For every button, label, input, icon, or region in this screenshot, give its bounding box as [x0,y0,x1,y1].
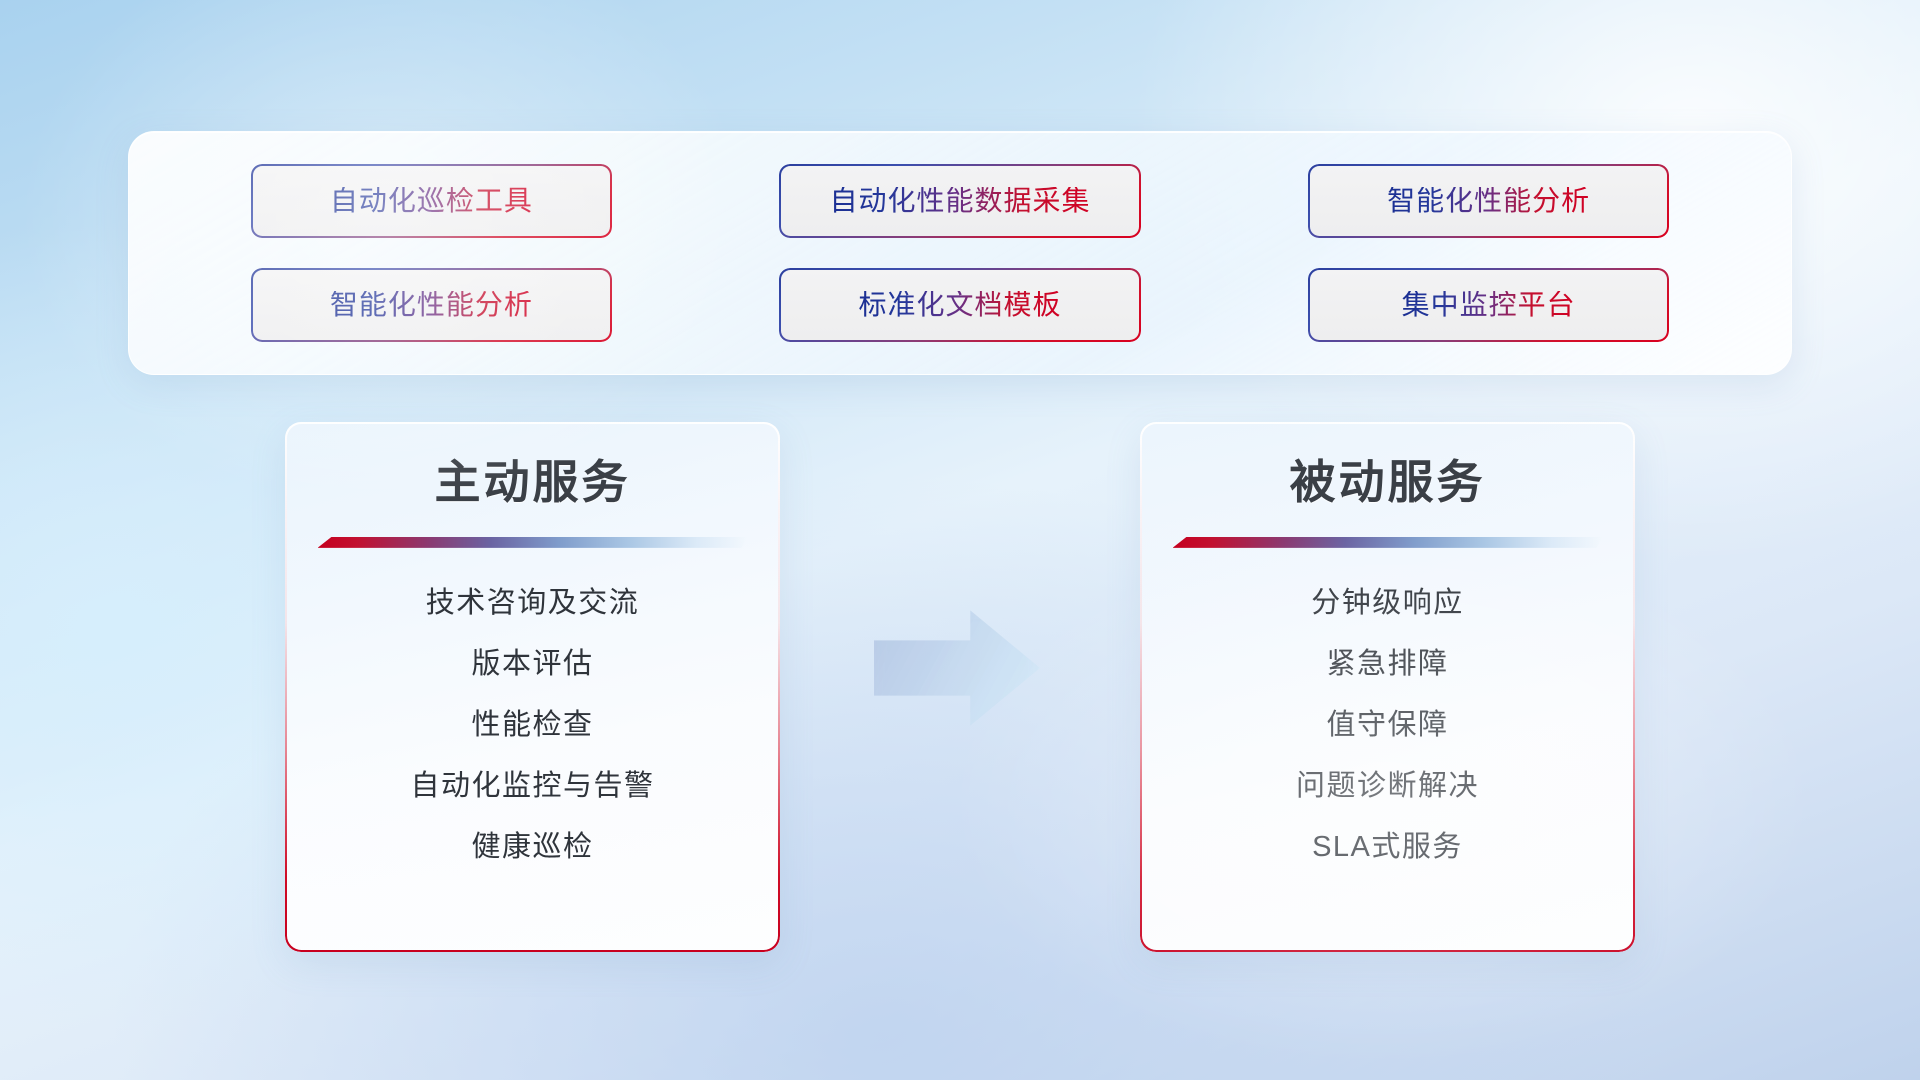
list-item: 值守保障 [1170,704,1605,746]
list-item: 健康巡检 [315,826,750,868]
capability-chip-intelligent-performance-analysis-1[interactable]: 智能化性能分析 [1310,166,1668,236]
capability-chip-intelligent-performance-analysis-2[interactable]: 智能化性能分析 [252,270,610,340]
service-card-proactive[interactable]: 主动服务 技术咨询及交流 版本评估 性能检查 自动化监控与告警 健康巡检 [285,422,780,952]
capability-chip-standardized-document-template[interactable]: 标准化文档模板 [781,270,1139,340]
capability-chip-label: 标准化文档模板 [858,291,1061,319]
capability-chip-label: 自动化性能数据采集 [829,187,1090,215]
list-item: 分钟级响应 [1170,582,1605,624]
list-item: 版本评估 [315,643,750,685]
title-divider-bar [1173,537,1603,548]
service-card-reactive[interactable]: 被动服务 分钟级响应 紧急排障 值守保障 问题诊断解决 SLA式服务 [1140,422,1635,952]
service-card-title: 被动服务 [1170,456,1605,509]
service-item-list: 技术咨询及交流 版本评估 性能检查 自动化监控与告警 健康巡检 [315,582,750,868]
capability-panel: 自动化巡检工具 自动化性能数据采集 智能化性能分析 智能化性能分析 标准化文档模… [128,131,1792,375]
title-divider-bar [318,537,748,548]
capability-chip-centralized-monitoring-platform[interactable]: 集中监控平台 [1310,270,1668,340]
capability-chip-label: 集中监控平台 [1402,291,1576,319]
list-item: 性能检查 [315,704,750,746]
slide-canvas: 自动化巡检工具 自动化性能数据采集 智能化性能分析 智能化性能分析 标准化文档模… [0,0,1920,1080]
service-card-title: 主动服务 [315,456,750,509]
list-item: 问题诊断解决 [1170,765,1605,807]
list-item: 自动化监控与告警 [315,765,750,807]
capability-chip-label: 自动化巡检工具 [330,187,533,215]
list-item: 技术咨询及交流 [315,582,750,624]
service-item-list: 分钟级响应 紧急排障 值守保障 问题诊断解决 SLA式服务 [1170,582,1605,868]
list-item: SLA式服务 [1170,826,1605,868]
capability-chip-automated-performance-data-collection[interactable]: 自动化性能数据采集 [781,166,1139,236]
list-item: 紧急排障 [1170,643,1605,685]
capability-chip-automation-inspection-tool[interactable]: 自动化巡检工具 [252,166,610,236]
capability-chip-label: 智能化性能分析 [330,291,533,319]
capability-chip-label: 智能化性能分析 [1387,187,1590,215]
arrow-right-icon [874,608,1040,728]
